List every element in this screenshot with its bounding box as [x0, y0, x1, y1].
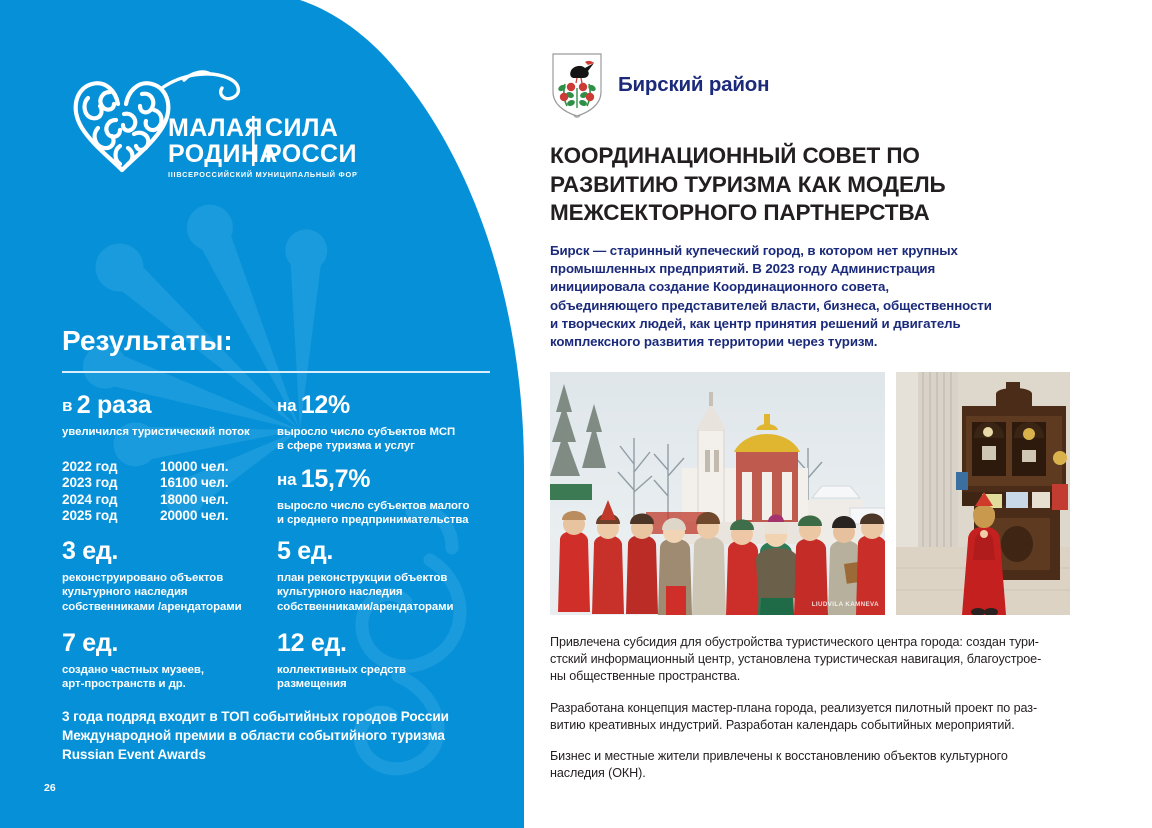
logo-word-rossii: РОССИИ — [265, 140, 358, 168]
table-cell-year: 2023 год — [62, 475, 160, 491]
logo-word-rodina: РОДИНА — [168, 140, 278, 168]
stat-description: план реконструкции объектов культурного … — [277, 571, 454, 614]
logo-word-malaya: МАЛАЯ — [168, 114, 263, 142]
table-cell-year: 2024 год — [62, 492, 160, 508]
body-paragraph-masterplan: Разработана концепция мастер-плана город… — [550, 700, 1078, 734]
stat-number: 3 ед. — [62, 537, 118, 565]
stat-number: 2 раза — [77, 391, 152, 419]
body-paragraph-subsidy: Привлечена субсидия для обустройства тур… — [550, 634, 1078, 686]
stat-prefix: в — [62, 396, 72, 415]
stat-description: реконструировано объектов культурного на… — [62, 571, 242, 614]
stat-value: 7 ед. — [62, 631, 204, 656]
table-cell-value: 20000 чел. — [160, 508, 280, 524]
table-row: 2022 год 10000 чел. — [62, 459, 280, 475]
stat-accommodation-facilities: 12 ед. коллективных средств размещения — [277, 631, 406, 692]
tourist-flow-table: 2022 год 10000 чел. 2023 год 16100 чел. … — [62, 459, 280, 525]
stat-number: 7 ед. — [62, 629, 118, 657]
stat-description: создано частных музеев, арт-пространств … — [62, 663, 204, 692]
birsky-district-coat-of-arms-icon — [550, 52, 604, 118]
stat-reconstructed-objects: 3 ед. реконструировано объектов культурн… — [62, 539, 242, 614]
logo-divider — [252, 116, 255, 166]
table-cell-value: 18000 чел. — [160, 492, 280, 508]
winter-folk-festival-photo: LIUDVILA KAMNEVA — [550, 372, 885, 615]
results-divider — [62, 371, 490, 373]
stat-value: в 2 раза — [62, 393, 250, 418]
results-heading: Результаты: — [62, 325, 233, 357]
photo-row: LIUDVILA KAMNEVA — [550, 372, 1070, 615]
stat-value: 5 ед. — [277, 539, 454, 564]
photo-credit: LIUDVILA KAMNEVA — [812, 601, 879, 608]
table-cell-value: 10000 чел. — [160, 459, 280, 475]
stat-number: 5 ед. — [277, 537, 333, 565]
stat-tourist-flow: в 2 раза увеличился туристический поток — [62, 393, 250, 439]
body-paragraph-business: Бизнес и местные жители привлечены к вос… — [550, 748, 1078, 782]
intro-paragraph: Бирск — старинный купеческий город, в ко… — [550, 242, 1074, 351]
stat-description: коллективных средств размещения — [277, 663, 406, 692]
stat-value: 3 ед. — [62, 539, 242, 564]
table-cell-year: 2022 год — [62, 459, 160, 475]
stat-number: 12 ед. — [277, 629, 347, 657]
award-statement: 3 года подряд входит в ТОП событийных го… — [62, 707, 502, 764]
stat-prefix: на — [277, 396, 296, 415]
stat-description: увеличился туристический поток — [62, 425, 250, 439]
museum-interior-photo — [896, 372, 1070, 615]
stat-description: выросло число субъектов малого и среднег… — [277, 499, 469, 528]
table-row: 2025 год 20000 чел. — [62, 508, 280, 524]
table-cell-value: 16100 чел. — [160, 475, 280, 491]
district-name: Бирский район — [618, 73, 769, 97]
district-header: Бирский район — [550, 52, 769, 118]
page-number: 26 — [44, 782, 56, 794]
stat-number: 12% — [301, 391, 350, 419]
table-row: 2024 год 18000 чел. — [62, 492, 280, 508]
stat-value: 12 ед. — [277, 631, 406, 656]
table-row: 2023 год 16100 чел. — [62, 475, 280, 491]
left-blue-panel: МАЛАЯ РОДИНА СИЛА РОССИИ IIIВСЕРОССИЙСКИ… — [0, 0, 528, 828]
stat-sme-growth: на 15,7% выросло число субъектов малого … — [277, 467, 469, 528]
table-cell-year: 2025 год — [62, 508, 160, 524]
stat-value: на 12% — [277, 393, 455, 418]
stat-private-museums: 7 ед. создано частных музеев, арт-простр… — [62, 631, 204, 692]
logo-subtitle: IIIВСЕРОССИЙСКИЙ МУНИЦИПАЛЬНЫЙ ФОРУМ — [168, 170, 358, 179]
stat-planned-reconstruction: 5 ед. план реконструкции объектов культу… — [277, 539, 454, 614]
right-content-panel: Бирский район КООРДИНАЦИОННЫЙ СОВЕТ ПО Р… — [548, 0, 1108, 828]
logo-word-sila: СИЛА — [265, 114, 338, 142]
stat-value: на 15,7% — [277, 467, 469, 492]
page-title: КООРДИНАЦИОННЫЙ СОВЕТ ПО РАЗВИТИЮ ТУРИЗМ… — [550, 142, 1080, 228]
forum-logo: МАЛАЯ РОДИНА СИЛА РОССИИ IIIВСЕРОССИЙСКИ… — [58, 58, 358, 186]
stat-description: выросло число субъектов МСП в сфере тури… — [277, 425, 455, 454]
stat-msp-growth: на 12% выросло число субъектов МСП в сфе… — [277, 393, 455, 454]
stat-number: 15,7% — [301, 465, 370, 493]
